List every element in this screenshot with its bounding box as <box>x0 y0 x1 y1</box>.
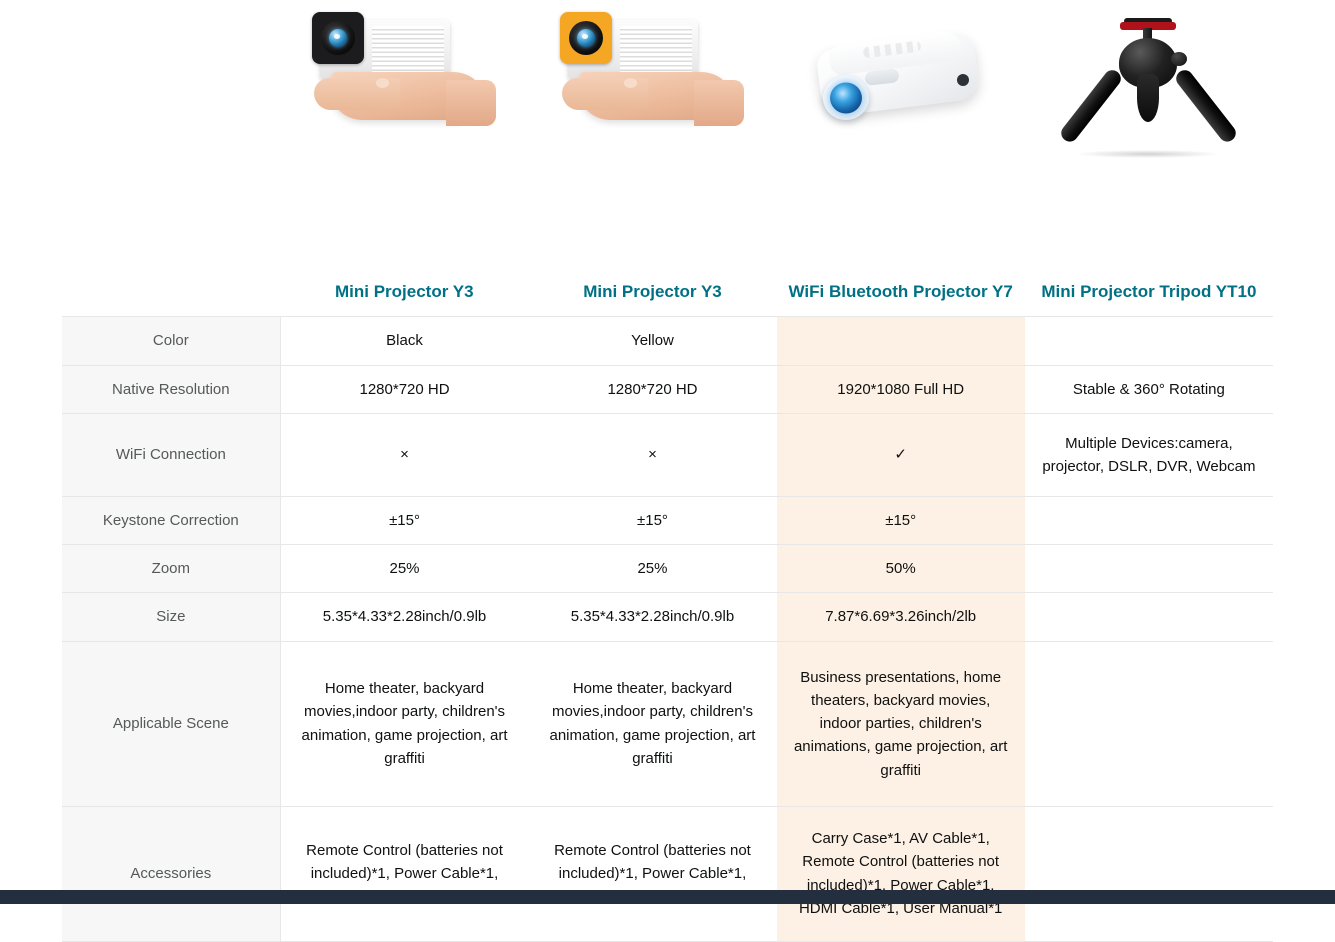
cell-size-product-3: 7.87*6.69*3.26inch/2lb <box>777 593 1025 641</box>
fingernail <box>624 78 637 88</box>
mini-projector-yellow-on-hand-icon <box>562 12 742 142</box>
table-row-zoom: Zoom 25% 25% 50% <box>62 545 1273 593</box>
cell-color-product-4 <box>1025 317 1273 365</box>
comparison-table-head: Mini Projector Y3 Mini Projector Y3 WiFi… <box>62 272 1273 317</box>
cell-accessories-product-1: Remote Control (batteries not included)*… <box>280 806 528 941</box>
cell-scene-product-2: Home theater, backyard movies,indoor par… <box>528 641 776 806</box>
cell-size-product-1: 5.35*4.33*2.28inch/0.9lb <box>280 593 528 641</box>
mini-projector-black-on-hand-icon <box>314 12 494 142</box>
projector-lens-inner <box>329 29 347 47</box>
tripod-lock-knob <box>1171 52 1187 66</box>
product-image-mini-projector-y3-black[interactable] <box>280 0 528 180</box>
comparison-table-body: Color Black Yellow Native Resolution 128… <box>62 317 1273 941</box>
product-image-wifi-bluetooth-projector-y7[interactable] <box>776 0 1024 180</box>
column-header-product-4[interactable]: Mini Projector Tripod YT10 <box>1025 272 1273 317</box>
fingernail <box>376 78 389 88</box>
tripod-leg-left <box>1058 67 1124 145</box>
row-label-wifi-connection: WiFi Connection <box>62 413 280 496</box>
product-image-mini-projector-y3-yellow[interactable] <box>528 0 776 180</box>
product-image-strip <box>62 0 1273 262</box>
cell-wifi-product-3: ✓ <box>777 413 1025 496</box>
black-mini-tripod-icon <box>1063 8 1233 160</box>
row-label-applicable-scene: Applicable Scene <box>62 641 280 806</box>
cell-resolution-product-4: Stable & 360° Rotating <box>1025 365 1273 413</box>
product-comparison-table: Mini Projector Y3 Mini Projector Y3 WiFi… <box>62 272 1273 942</box>
row-label-color: Color <box>62 317 280 365</box>
page-footer-bar <box>0 890 1335 904</box>
table-corner-cell <box>62 272 280 317</box>
cell-zoom-product-3: 50% <box>777 545 1025 593</box>
row-label-size: Size <box>62 593 280 641</box>
cell-scene-product-1: Home theater, backyard movies,indoor par… <box>280 641 528 806</box>
column-header-product-3[interactable]: WiFi Bluetooth Projector Y7 <box>777 272 1025 317</box>
table-row-keystone-correction: Keystone Correction ±15° ±15° ±15° <box>62 496 1273 544</box>
projector-lens-outer <box>321 21 355 55</box>
cell-keystone-product-3: ±15° <box>777 496 1025 544</box>
comparison-table-wrapper: Mini Projector Y3 Mini Projector Y3 WiFi… <box>62 272 1273 942</box>
row-label-accessories: Accessories <box>62 806 280 941</box>
table-header-row: Mini Projector Y3 Mini Projector Y3 WiFi… <box>62 272 1273 317</box>
cell-accessories-product-4 <box>1025 806 1273 941</box>
cell-wifi-product-4: Multiple Devices:camera, projector, DSLR… <box>1025 413 1273 496</box>
cell-keystone-product-2: ±15° <box>528 496 776 544</box>
tripod-leg-right <box>1173 67 1239 145</box>
row-label-zoom: Zoom <box>62 545 280 593</box>
projector-lens-inner <box>577 29 595 47</box>
projector-lens-outer <box>569 21 603 55</box>
y7-lens-ring <box>823 76 869 120</box>
cell-wifi-product-2: × <box>528 413 776 496</box>
cell-accessories-product-3: Carry Case*1, AV Cable*1, Remote Control… <box>777 806 1025 941</box>
tripod-shadow <box>1077 150 1219 158</box>
cell-zoom-product-2: 25% <box>528 545 776 593</box>
cell-resolution-product-3: 1920*1080 Full HD <box>777 365 1025 413</box>
cell-color-product-1: Black <box>280 317 528 365</box>
cell-zoom-product-1: 25% <box>280 545 528 593</box>
cell-wifi-product-1: × <box>280 413 528 496</box>
hand-holding-projector <box>314 66 492 136</box>
y7-lens <box>830 83 862 114</box>
column-header-product-1[interactable]: Mini Projector Y3 <box>280 272 528 317</box>
white-projector-y7-icon <box>805 18 995 138</box>
image-strip-label-spacer <box>62 0 280 180</box>
table-row-applicable-scene: Applicable Scene Home theater, backyard … <box>62 641 1273 806</box>
lens-glint <box>582 34 588 39</box>
cell-keystone-product-4 <box>1025 496 1273 544</box>
cell-keystone-product-1: ±15° <box>280 496 528 544</box>
y7-port <box>957 74 969 86</box>
table-row-native-resolution: Native Resolution 1280*720 HD 1280*720 H… <box>62 365 1273 413</box>
row-label-native-resolution: Native Resolution <box>62 365 280 413</box>
product-image-mini-projector-tripod-yt10[interactable] <box>1024 0 1272 180</box>
cell-color-product-2: Yellow <box>528 317 776 365</box>
table-row-wifi-connection: WiFi Connection × × ✓ Multiple Devices:c… <box>62 413 1273 496</box>
tripod-center-leg <box>1137 74 1159 122</box>
cell-scene-product-4 <box>1025 641 1273 806</box>
wrist <box>446 80 496 126</box>
cell-accessories-product-2: Remote Control (batteries not included)*… <box>528 806 776 941</box>
cell-size-product-2: 5.35*4.33*2.28inch/0.9lb <box>528 593 776 641</box>
cell-size-product-4 <box>1025 593 1273 641</box>
lens-glint <box>334 34 340 39</box>
table-row-color: Color Black Yellow <box>62 317 1273 365</box>
cell-resolution-product-2: 1280*720 HD <box>528 365 776 413</box>
cell-zoom-product-4 <box>1025 545 1273 593</box>
column-header-product-2[interactable]: Mini Projector Y3 <box>528 272 776 317</box>
row-label-keystone-correction: Keystone Correction <box>62 496 280 544</box>
projector-lens-housing <box>312 12 364 64</box>
cell-resolution-product-1: 1280*720 HD <box>280 365 528 413</box>
wrist <box>694 80 744 126</box>
hand-holding-projector <box>562 66 740 136</box>
table-row-accessories: Accessories Remote Control (batteries no… <box>62 806 1273 941</box>
cell-color-product-3 <box>777 317 1025 365</box>
projector-lens-housing <box>560 12 612 64</box>
table-row-size: Size 5.35*4.33*2.28inch/0.9lb 5.35*4.33*… <box>62 593 1273 641</box>
cell-scene-product-3: Business presentations, home theaters, b… <box>777 641 1025 806</box>
